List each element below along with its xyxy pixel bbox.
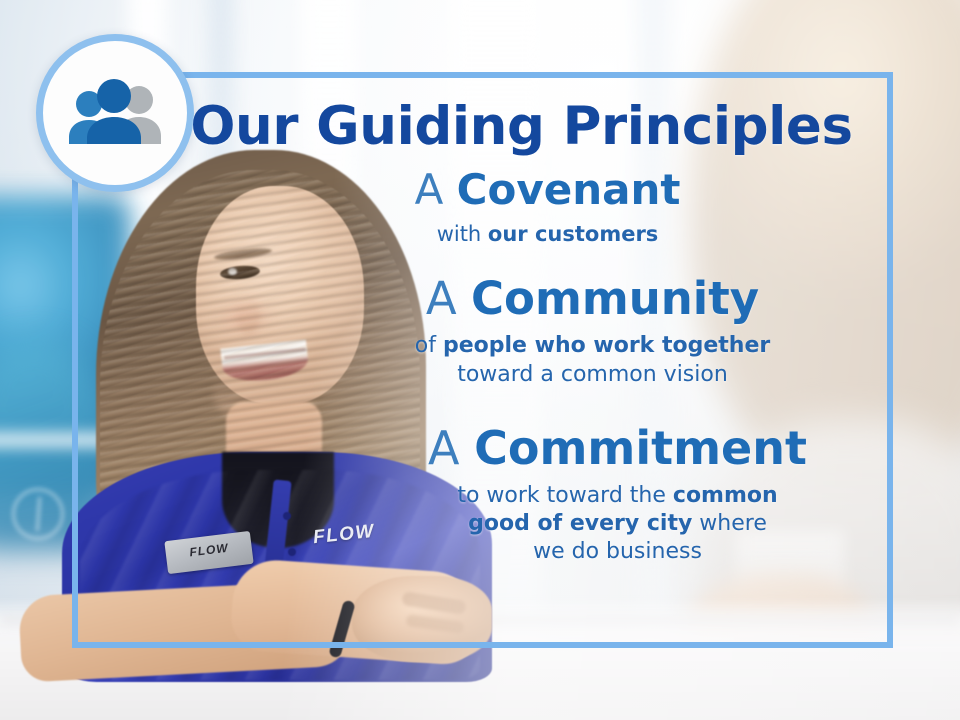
subtext-run: where [692,511,767,536]
principle-noun: Commitment [474,421,807,475]
principle-noun: Community [471,272,759,325]
principle-commitment: A Commitment to work toward the commongo… [72,423,863,567]
subtext-run: to work toward the [457,483,673,508]
subtext-emphasis: good of every city [468,511,692,536]
principle-article: A [415,165,444,214]
principle-subtext: of people who work togethertoward a comm… [322,332,863,388]
vw-emblem-icon [12,488,64,540]
principle-subtext: with our customers [232,221,863,248]
subtext-run: of [415,333,443,358]
principle-covenant: A Covenant with our customers [72,166,863,248]
subtext-run: with [437,222,488,246]
subtext-emphasis: people who work together [443,333,770,358]
principle-heading: A Community [322,274,863,324]
subtext-run: we do business [533,539,702,564]
subtext-emphasis: our customers [488,222,658,246]
principle-heading: A Covenant [232,166,863,213]
guiding-principles-graphic: FLOW FLOW Our Guiding Principles A [0,0,960,720]
principle-article: A [428,421,459,475]
principle-subtext: to work toward the commongood of every c… [372,482,863,566]
principle-article: A [426,272,457,325]
principle-noun: Covenant [457,165,681,214]
text-content: Our Guiding Principles A Covenant with o… [72,72,893,648]
page-title: Our Guiding Principles [72,100,863,154]
subtext-emphasis: common [673,483,778,508]
principle-heading: A Commitment [372,423,863,475]
subtext-run: toward a common vision [457,362,728,387]
principle-community: A Community of people who work togethert… [72,274,863,389]
